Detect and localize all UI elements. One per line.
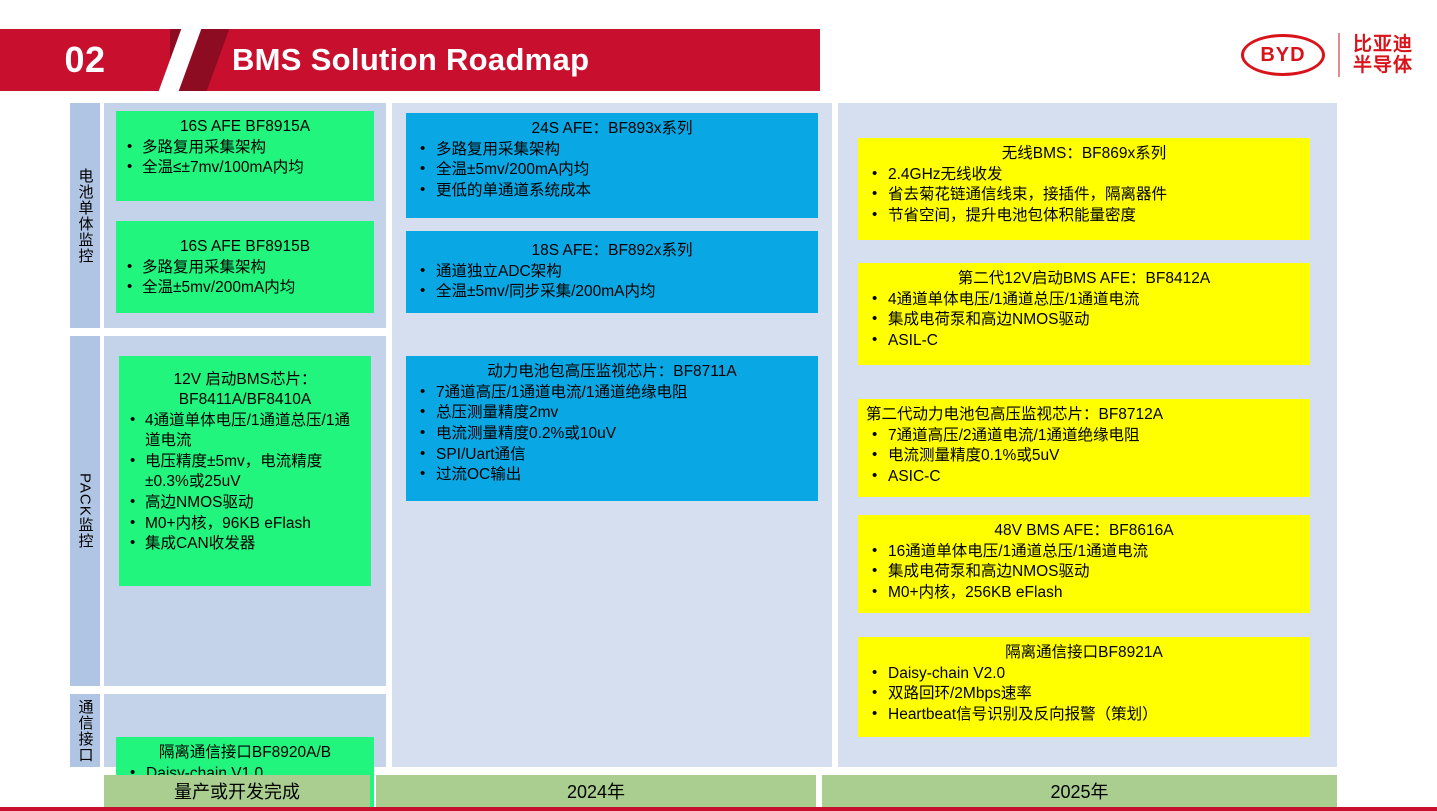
- slide-header: 02 BMS Solution Roadmap: [0, 29, 820, 91]
- card-title: 12V 启动BMS芯片： BF8411A/BF8410A: [127, 370, 363, 410]
- bullet-item: 全温±5mv/200mA内均: [414, 160, 810, 181]
- bullet-item: 更低的单通道系统成本: [414, 181, 810, 202]
- bullet-item: 2.4GHz无线收发: [866, 165, 1302, 186]
- card-title: 16S AFE BF8915B: [124, 237, 366, 257]
- card-bullets: 2.4GHz无线收发 省去菊花链通信线束，接插件，隔离器件 节省空间，提升电池包…: [866, 165, 1302, 227]
- card-title: 48V BMS AFE：BF8616A: [866, 521, 1302, 541]
- rail-label-2: 通信接口: [75, 699, 96, 763]
- timeline-cell-2024[interactable]: 2024年: [376, 775, 816, 807]
- bullet-item: 4通道单体电压/1通道总压/1通道电流: [866, 290, 1302, 311]
- bullet-item: 高边NMOS驱动: [127, 493, 363, 514]
- card-bullets: 16通道单体电压/1通道总压/1通道电流 集成电荷泵和高边NMOS驱动 M0+内…: [866, 542, 1302, 604]
- bullet-item: 总压测量精度2mv: [414, 403, 810, 424]
- card-bullets: Daisy-chain V2.0 双路回环/2Mbps速率 Heartbeat信…: [866, 664, 1302, 726]
- rail-cell-comms: 通信接口: [70, 694, 100, 767]
- card-isolated-comms-bf8921a[interactable]: 隔离通信接口BF8921A Daisy-chain V2.0 双路回环/2Mbp…: [858, 637, 1310, 737]
- header-section-number-block: 02: [0, 29, 170, 91]
- category-rail-column: 电池单体监控 PACK监控 通信接口: [70, 103, 100, 767]
- rail-cell-monitoring: 电池单体监控: [70, 103, 100, 328]
- rail-label-0: 电池单体监控: [75, 168, 96, 264]
- logo-cn-line2: 半导体: [1353, 55, 1413, 76]
- card-bullets: 4通道单体电压/1通道总压/1通道电流 集成电荷泵和高边NMOS驱动 ASIL-…: [866, 290, 1302, 352]
- bullet-item: 节省空间，提升电池包体积能量密度: [866, 206, 1302, 227]
- card-bullets: 多路复用采集架构 全温±5mv/200mA内均 更低的单通道系统成本: [414, 140, 810, 202]
- bullet-item: 4通道单体电压/1通道总压/1通道电流: [127, 411, 363, 452]
- bullet-item: Heartbeat信号识别及反向报警（策划）: [866, 705, 1302, 726]
- logo-chinese-name: 比亚迪 半导体: [1353, 34, 1413, 77]
- card-bullets: 通道独立ADC架构 全温±5mv/同步采集/200mA内均: [414, 262, 810, 303]
- card-title: 第二代12V启动BMS AFE：BF8412A: [866, 269, 1302, 289]
- timeline-cell-mass-production[interactable]: 量产或开发完成: [104, 775, 370, 807]
- column-3-2025: 无线BMS：BF869x系列 2.4GHz无线收发 省去菊花链通信线束，接插件，…: [838, 103, 1337, 767]
- card-bullets: 多路复用采集架构 全温≤±7mv/100mA内均: [124, 138, 366, 179]
- timeline-cell-2025[interactable]: 2025年: [822, 775, 1337, 807]
- card-title: 隔离通信接口BF8921A: [866, 643, 1302, 663]
- card-bullets: 4通道单体电压/1通道总压/1通道电流 电压精度±5mv，电流精度±0.3%或2…: [127, 411, 363, 555]
- column-2-2024: 24S AFE：BF893x系列 多路复用采集架构 全温±5mv/200mA内均…: [392, 103, 832, 767]
- card-48v-bms-afe-bf8616a[interactable]: 48V BMS AFE：BF8616A 16通道单体电压/1通道总压/1通道电流…: [858, 515, 1310, 613]
- header-section-number: 02: [64, 39, 105, 81]
- byd-wordmark: BYD: [1260, 44, 1305, 67]
- bullet-item: 通道独立ADC架构: [414, 262, 810, 283]
- byd-logo: BYD 比亚迪 半导体: [1241, 33, 1413, 77]
- card-title: 无线BMS：BF869x系列: [866, 144, 1302, 164]
- card-12v-bms-bf8411a-bf8410a[interactable]: 12V 启动BMS芯片： BF8411A/BF8410A 4通道单体电压/1通道…: [119, 356, 371, 586]
- byd-oval-mark-icon: BYD: [1241, 34, 1325, 76]
- card-title: 18S AFE：BF892x系列: [414, 241, 810, 261]
- card-bullets: 7通道高压/2通道电流/1通道绝缘电阻 电流测量精度0.1%或5uV ASIC-…: [866, 426, 1302, 488]
- bullet-item: 双路回环/2Mbps速率: [866, 684, 1302, 705]
- card-title: 动力电池包高压监视芯片：BF8711A: [414, 362, 810, 382]
- bullet-item: 16通道单体电压/1通道总压/1通道电流: [866, 542, 1302, 563]
- card-gen2-12v-bms-afe-bf8412a[interactable]: 第二代12V启动BMS AFE：BF8412A 4通道单体电压/1通道总压/1通…: [858, 263, 1310, 365]
- bullet-item: 集成CAN收发器: [127, 534, 363, 555]
- bullet-item: 电压精度±5mv，电流精度±0.3%或25uV: [127, 452, 363, 493]
- bullet-item: 过流OC输出: [414, 465, 810, 486]
- bottom-accent-rule: [0, 807, 1437, 811]
- card-wireless-bms-bf869x[interactable]: 无线BMS：BF869x系列 2.4GHz无线收发 省去菊花链通信线束，接插件，…: [858, 138, 1310, 240]
- card-title: 16S AFE BF8915A: [124, 117, 366, 137]
- card-bullets: 多路复用采集架构 全温±5mv/200mA内均: [124, 258, 366, 299]
- bullet-item: M0+内核，96KB eFlash: [127, 514, 363, 535]
- bullet-item: 多路复用采集架构: [124, 258, 366, 279]
- bullet-item: M0+内核，256KB eFlash: [866, 583, 1302, 604]
- slide-root: 02 BMS Solution Roadmap BYD 比亚迪 半导体 电池单体…: [0, 0, 1437, 811]
- bullet-item: ASIC-C: [866, 467, 1302, 488]
- card-title: 24S AFE：BF893x系列: [414, 119, 810, 139]
- timeline-bar: 量产或开发完成 2024年 2025年: [104, 775, 1337, 807]
- card-24s-afe-bf893x[interactable]: 24S AFE：BF893x系列 多路复用采集架构 全温±5mv/200mA内均…: [406, 113, 818, 218]
- bullet-item: 全温±5mv/同步采集/200mA内均: [414, 282, 810, 303]
- card-18s-afe-bf892x[interactable]: 18S AFE：BF892x系列 通道独立ADC架构 全温±5mv/同步采集/2…: [406, 231, 818, 313]
- card-title: 隔离通信接口BF8920A/B: [124, 743, 366, 763]
- bullet-item: 多路复用采集架构: [124, 138, 366, 159]
- logo-cn-line1: 比亚迪: [1353, 34, 1413, 55]
- bullet-item: 全温≤±7mv/100mA内均: [124, 158, 366, 179]
- logo-divider: [1338, 33, 1340, 77]
- bullet-item: Daisy-chain V2.0: [866, 664, 1302, 685]
- bullet-item: 多路复用采集架构: [414, 140, 810, 161]
- page-title: BMS Solution Roadmap: [232, 29, 589, 91]
- rail-label-1: PACK监控: [75, 473, 96, 549]
- bullet-item: 全温±5mv/200mA内均: [124, 278, 366, 299]
- roadmap-grid: 电池单体监控 PACK监控 通信接口 16S AFE BF8915A 多路复用采…: [70, 103, 1337, 767]
- card-title: 第二代动力电池包高压监视芯片：BF8712A: [866, 405, 1302, 425]
- bullet-item: 集成电荷泵和高边NMOS驱动: [866, 562, 1302, 583]
- card-16s-afe-bf8915a[interactable]: 16S AFE BF8915A 多路复用采集架构 全温≤±7mv/100mA内均: [116, 111, 374, 201]
- bullet-item: 集成电荷泵和高边NMOS驱动: [866, 310, 1302, 331]
- bullet-item: 电流测量精度0.1%或5uV: [866, 446, 1302, 467]
- bullet-item: 7通道高压/2通道电流/1通道绝缘电阻: [866, 426, 1302, 447]
- bullet-item: 省去菊花链通信线束，接插件，隔离器件: [866, 185, 1302, 206]
- card-gen2-hv-monitor-bf8712a[interactable]: 第二代动力电池包高压监视芯片：BF8712A 7通道高压/2通道电流/1通道绝缘…: [858, 399, 1310, 497]
- bullet-item: 电流测量精度0.2%或10uV: [414, 424, 810, 445]
- bullet-item: 7通道高压/1通道电流/1通道绝缘电阻: [414, 383, 810, 404]
- card-16s-afe-bf8915b[interactable]: 16S AFE BF8915B 多路复用采集架构 全温±5mv/200mA内均: [116, 221, 374, 313]
- rail-cell-pack: PACK监控: [70, 336, 100, 686]
- bullet-item: SPI/Uart通信: [414, 445, 810, 466]
- card-hv-monitor-bf8711a[interactable]: 动力电池包高压监视芯片：BF8711A 7通道高压/1通道电流/1通道绝缘电阻 …: [406, 356, 818, 501]
- card-bullets: 7通道高压/1通道电流/1通道绝缘电阻 总压测量精度2mv 电流测量精度0.2%…: [414, 383, 810, 486]
- bullet-item: ASIL-C: [866, 331, 1302, 352]
